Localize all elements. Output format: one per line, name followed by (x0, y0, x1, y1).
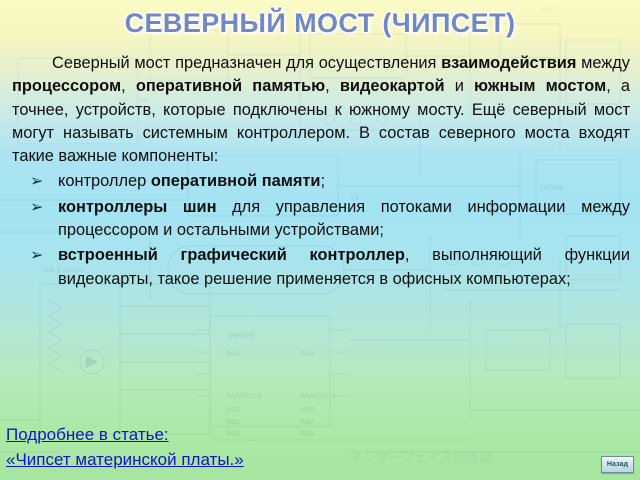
para-seg: , (121, 77, 136, 95)
bullet-seg: контроллер (58, 172, 151, 190)
svg-text:RA2: RA2 (226, 350, 240, 358)
component-list: ➢ контроллер оперативной памяти; ➢ контр… (12, 170, 630, 290)
link-more-in-article[interactable]: Подробнее в статье: (6, 422, 244, 447)
svg-text:RB6: RB6 (300, 430, 315, 438)
para-seg: Северный мост предназначен для осуществл… (52, 54, 441, 72)
slide-body: Северный мост предназначен для осуществл… (12, 52, 630, 293)
bullet-seg: ; (321, 172, 326, 190)
para-seg: , (325, 77, 340, 95)
arrow-bullet-icon: ➢ (30, 244, 43, 267)
svg-text:VSS: VSS (226, 406, 240, 414)
para-seg-bold: процессором (12, 77, 121, 95)
page-title: СЕВЕРНЫЙ МОСТ (ЧИПСЕТ) (0, 6, 640, 40)
svg-text:RA6/OSC1: RA6/OSC1 (300, 392, 335, 400)
back-button[interactable]: Назад (601, 456, 634, 473)
svg-text:RA5/MCLR: RA5/MCLR (226, 392, 262, 400)
list-item: ➢ контроллер оперативной памяти; (12, 170, 630, 193)
para-seg: между (576, 54, 630, 72)
svg-text:RA0: RA0 (300, 350, 314, 358)
para-seg-bold: южным мостом (474, 77, 606, 95)
svg-text:RB7: RB7 (300, 418, 314, 426)
para-seg-bold: оперативной памятью (136, 77, 325, 95)
bullet-seg-bold: встроенный графический контроллер (58, 246, 405, 264)
slide: DB 9 Serial 16F628 RA2RA0 RA5/MCLRRA6/OS… (0, 0, 640, 480)
bullet-seg-bold: оперативной памяти (151, 172, 321, 190)
svg-text:VDD: VDD (300, 406, 316, 414)
svg-text:16F628: 16F628 (228, 332, 254, 340)
back-button-label: Назад (607, 461, 628, 469)
list-item: ➢ встроенный графический контроллер, вып… (12, 244, 630, 291)
arrow-bullet-icon: ➢ (30, 170, 43, 193)
para-seg: и (445, 77, 475, 95)
para-seg-bold: видеокартой (340, 77, 445, 95)
footer-links: Подробнее в статье: «Чипсет материнской … (6, 422, 244, 472)
intro-paragraph: Северный мост предназначен для осуществл… (12, 52, 630, 168)
svg-text:インターフェイス回路図: インターフェイス回路図 (350, 450, 492, 466)
link-chipset-article[interactable]: «Чипсет материнской платы.» (6, 447, 244, 472)
bullet-seg-bold: контроллеры шин (58, 198, 217, 216)
list-item: ➢ контроллеры шин для управления потокам… (12, 196, 630, 243)
arrow-bullet-icon: ➢ (30, 196, 43, 219)
para-seg-bold: взаимодействия (441, 54, 576, 72)
